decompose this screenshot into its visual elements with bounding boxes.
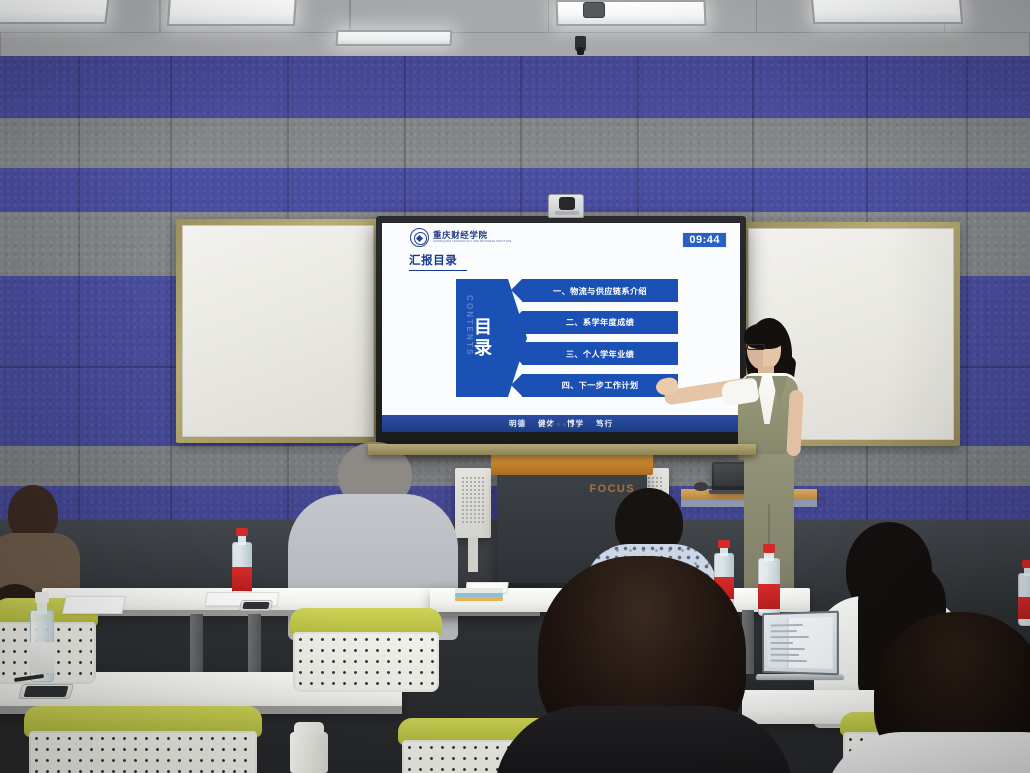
toc-item-list: 一、物流与供应链系介绍 二、系学年度成绩 三、个人学年业绩 四、下一步工作计划 bbox=[522, 279, 678, 397]
university-name-en: CHONGQING TECHNOLOGY AND BUSINESS INSTIT… bbox=[433, 241, 512, 244]
toc-left-chevron: CONTENTS 目录 bbox=[456, 279, 508, 397]
display-mount-rail bbox=[368, 444, 756, 455]
ceiling-light-2 bbox=[167, 0, 297, 26]
presenter-glasses bbox=[747, 344, 765, 350]
slide-clock: 09:44 bbox=[682, 232, 727, 248]
chair-center-row1[interactable] bbox=[290, 608, 442, 692]
toc-item-2[interactable]: 二、系学年度成绩 bbox=[522, 311, 678, 334]
interactive-display[interactable]: 重庆财经学院 CHONGQING TECHNOLOGY AND BUSINESS… bbox=[376, 216, 746, 448]
ceiling-light-3 bbox=[556, 0, 707, 26]
presenter-right-arm bbox=[786, 390, 803, 457]
display-indicator-row bbox=[382, 418, 740, 430]
smartphone-2[interactable] bbox=[239, 600, 273, 611]
ceiling-light-5 bbox=[336, 30, 453, 46]
book-stack[interactable] bbox=[455, 588, 503, 604]
water-bottle-1[interactable] bbox=[232, 528, 252, 598]
ceiling-light-4 bbox=[811, 0, 963, 24]
display-top-camera bbox=[548, 194, 584, 218]
toc-vertical-label: 目录 bbox=[473, 317, 491, 359]
table-of-contents: CONTENTS 目录 一、物流与供应链系介绍 二、系学年度成绩 三、个人学年业… bbox=[456, 279, 678, 397]
attendee-foreground-center bbox=[498, 556, 788, 773]
university-logo: 重庆财经学院 CHONGQING TECHNOLOGY AND BUSINESS… bbox=[410, 228, 512, 247]
whiteboard-left bbox=[176, 219, 380, 443]
ceiling-speaker bbox=[583, 2, 605, 18]
attendee-foreground-right bbox=[852, 612, 1030, 773]
university-seal-icon bbox=[410, 228, 429, 247]
water-bottle-2[interactable] bbox=[30, 592, 54, 682]
lectern-speaker-left bbox=[455, 468, 491, 538]
paper-sheet-1[interactable] bbox=[62, 596, 126, 614]
thermos-flask[interactable] bbox=[290, 722, 328, 773]
lectern-wood-top bbox=[491, 453, 653, 475]
toc-item-1[interactable]: 一、物流与供应链系介绍 bbox=[522, 279, 678, 302]
attendee-torso bbox=[494, 706, 794, 773]
toc-item-3[interactable]: 三、个人学年业绩 bbox=[522, 342, 678, 365]
slide-title: 汇报目录 bbox=[409, 252, 457, 268]
classroom-photo: 重庆财经学院 CHONGQING TECHNOLOGY AND BUSINESS… bbox=[0, 0, 1030, 773]
chair-foreground-left[interactable] bbox=[24, 706, 262, 773]
ceiling-camera bbox=[575, 36, 586, 52]
university-name-cn: 重庆财经学院 bbox=[433, 231, 512, 240]
smartphone-1[interactable] bbox=[18, 684, 74, 699]
ceiling bbox=[0, 0, 1030, 58]
ceiling-light-1 bbox=[0, 0, 110, 24]
attendee-torso bbox=[822, 732, 1030, 773]
toc-item-4[interactable]: 四、下一步工作计划 bbox=[522, 374, 678, 397]
